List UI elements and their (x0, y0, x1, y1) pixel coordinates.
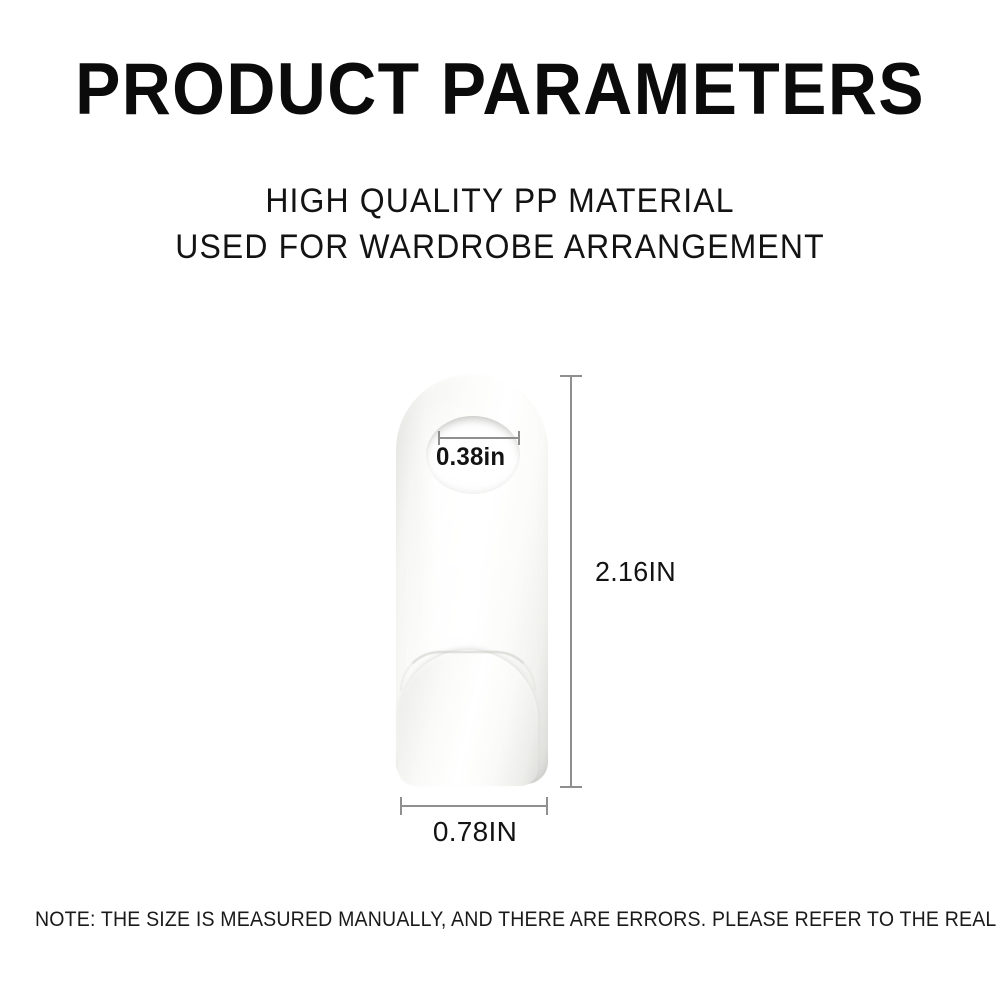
hole-width-cap-right (518, 431, 520, 445)
hole-width-label: 0.38in (436, 443, 505, 472)
height-cap-top (560, 375, 582, 377)
width-cap-left (400, 797, 402, 815)
measurement-note: NOTE: THE SIZE IS MEASURED MANUALLY, AND… (35, 908, 965, 932)
product-parameters-page: PRODUCT PARAMETERS HIGH QUALITY PP MATER… (0, 0, 1000, 1000)
height-dimension-line (570, 376, 572, 788)
subtitle-line-2: USED FOR WARDROBE ARRANGEMENT (30, 224, 970, 270)
hook-dome-tab (398, 650, 538, 786)
subtitle-block: HIGH QUALITY PP MATERIAL USED FOR WARDRO… (0, 178, 1000, 270)
hole-width-dimension-line (438, 437, 520, 439)
height-cap-bottom (560, 786, 582, 788)
subtitle-line-1: HIGH QUALITY PP MATERIAL (30, 178, 970, 224)
width-cap-right (546, 797, 548, 815)
width-dimension-line (400, 805, 548, 807)
width-label: 0.78IN (400, 816, 550, 848)
height-label: 2.16IN (595, 556, 676, 588)
page-title: PRODUCT PARAMETERS (35, 52, 965, 129)
